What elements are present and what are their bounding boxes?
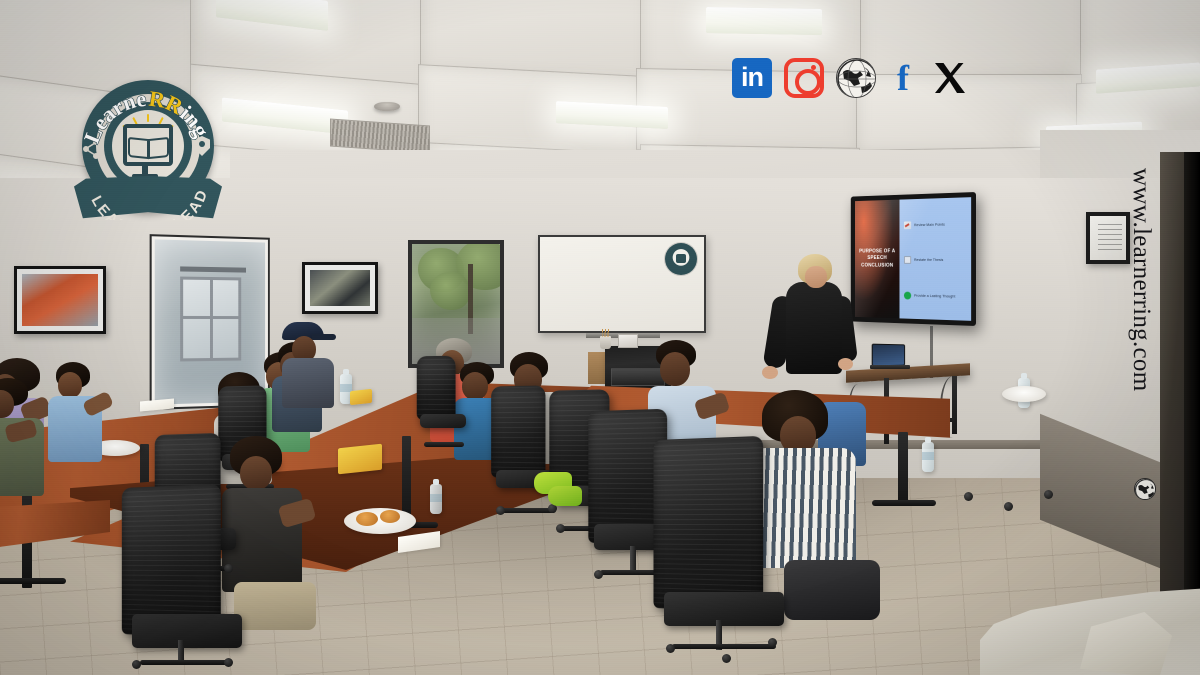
caster	[722, 654, 731, 663]
doorway-opening	[1184, 152, 1200, 632]
slide-bullet-label: Review Main Points	[914, 223, 945, 227]
network-node-icon	[82, 138, 100, 160]
x-glyph	[932, 60, 968, 96]
slide-bullet-label: Restate the Thesis	[914, 258, 943, 262]
globe-icon[interactable]	[836, 58, 876, 98]
slide-bullet-label: Provide a Lasting Thought	[914, 294, 955, 299]
paper-plate	[344, 508, 416, 534]
table-foot	[872, 500, 936, 506]
whiteboard-logo-emblem	[665, 243, 697, 275]
water-bottle	[430, 484, 442, 514]
caster	[768, 638, 777, 647]
ceiling-light-panel	[706, 7, 822, 35]
caster	[1004, 502, 1013, 511]
caster	[1044, 490, 1053, 499]
caster	[224, 658, 233, 667]
x-icon[interactable]	[930, 58, 970, 98]
slide-title: Purpose of a Speech Conclusion	[855, 248, 900, 270]
social-icon-bar: in f	[732, 58, 970, 98]
framed-photo-helicopter	[14, 266, 106, 334]
presenter-left-hand	[762, 366, 778, 379]
caster	[496, 506, 505, 515]
snack-food	[356, 512, 378, 526]
supplies-cup	[600, 336, 611, 349]
svg-text:LEARN TO LEAD: LEARN TO LEAD	[87, 186, 211, 220]
presenter-laptop[interactable]	[872, 344, 908, 370]
caster	[594, 570, 603, 579]
caster	[556, 524, 565, 533]
linkedin-label: in	[741, 64, 763, 91]
learnerring-logo: Learne RR ing LEARN TO LEAD	[68, 76, 228, 226]
laptop-keyboard	[870, 365, 910, 369]
caster	[224, 564, 233, 573]
slide-bullet: Provide a Lasting Thought	[904, 291, 967, 300]
snack-box	[338, 444, 382, 475]
table-leg	[898, 432, 908, 506]
slide-title-panel: Purpose of a Speech Conclusion	[855, 200, 900, 319]
presentation-screen[interactable]: Purpose of a Speech Conclusion Review Ma…	[851, 192, 976, 326]
instagram-icon[interactable]	[784, 58, 824, 98]
website-url: www.learnerring.com	[1124, 168, 1158, 488]
snack-box	[350, 389, 372, 405]
logo-tagline: LEARN TO LEAD	[74, 176, 222, 220]
framed-photo-osprey	[302, 262, 378, 314]
presenter-torso	[786, 282, 842, 374]
open-book-icon	[128, 137, 149, 159]
photo-canvas: Purpose of a Speech Conclusion Review Ma…	[0, 0, 1200, 675]
green-dot-icon	[904, 291, 911, 299]
globe-watermark-icon	[1134, 478, 1156, 500]
caster	[132, 660, 141, 669]
smoke-detector-icon	[374, 102, 400, 111]
caster	[666, 644, 675, 653]
linkedin-icon[interactable]: in	[732, 58, 772, 98]
table-foot	[0, 578, 66, 584]
open-book-icon	[148, 137, 169, 159]
whiteboard	[538, 235, 706, 333]
presenter-right-hand	[838, 358, 853, 370]
slide: Purpose of a Speech Conclusion Review Ma…	[855, 197, 971, 321]
sneaker	[548, 486, 582, 506]
tissue-box	[618, 334, 638, 348]
snack-food	[380, 510, 400, 523]
logo-tagline-banner: LEARN TO LEAD	[74, 176, 222, 220]
sun-ray	[147, 114, 149, 122]
document-icon	[904, 257, 911, 265]
caster	[964, 492, 973, 501]
slide-bullet: Restate the Thesis	[904, 256, 967, 264]
slide-bullet: Review Main Points	[904, 220, 967, 229]
laptop-screen	[872, 344, 905, 367]
facebook-icon[interactable]: f	[888, 58, 918, 98]
paper-plate	[1002, 386, 1046, 402]
presenter-face	[805, 266, 827, 288]
check-mark-icon	[904, 222, 911, 230]
water-bottle	[922, 442, 934, 472]
slide-bullet-panel: Review Main Points Restate the Thesis Pr…	[900, 197, 971, 321]
website-url-text: www.learnerring.com	[1127, 168, 1155, 391]
